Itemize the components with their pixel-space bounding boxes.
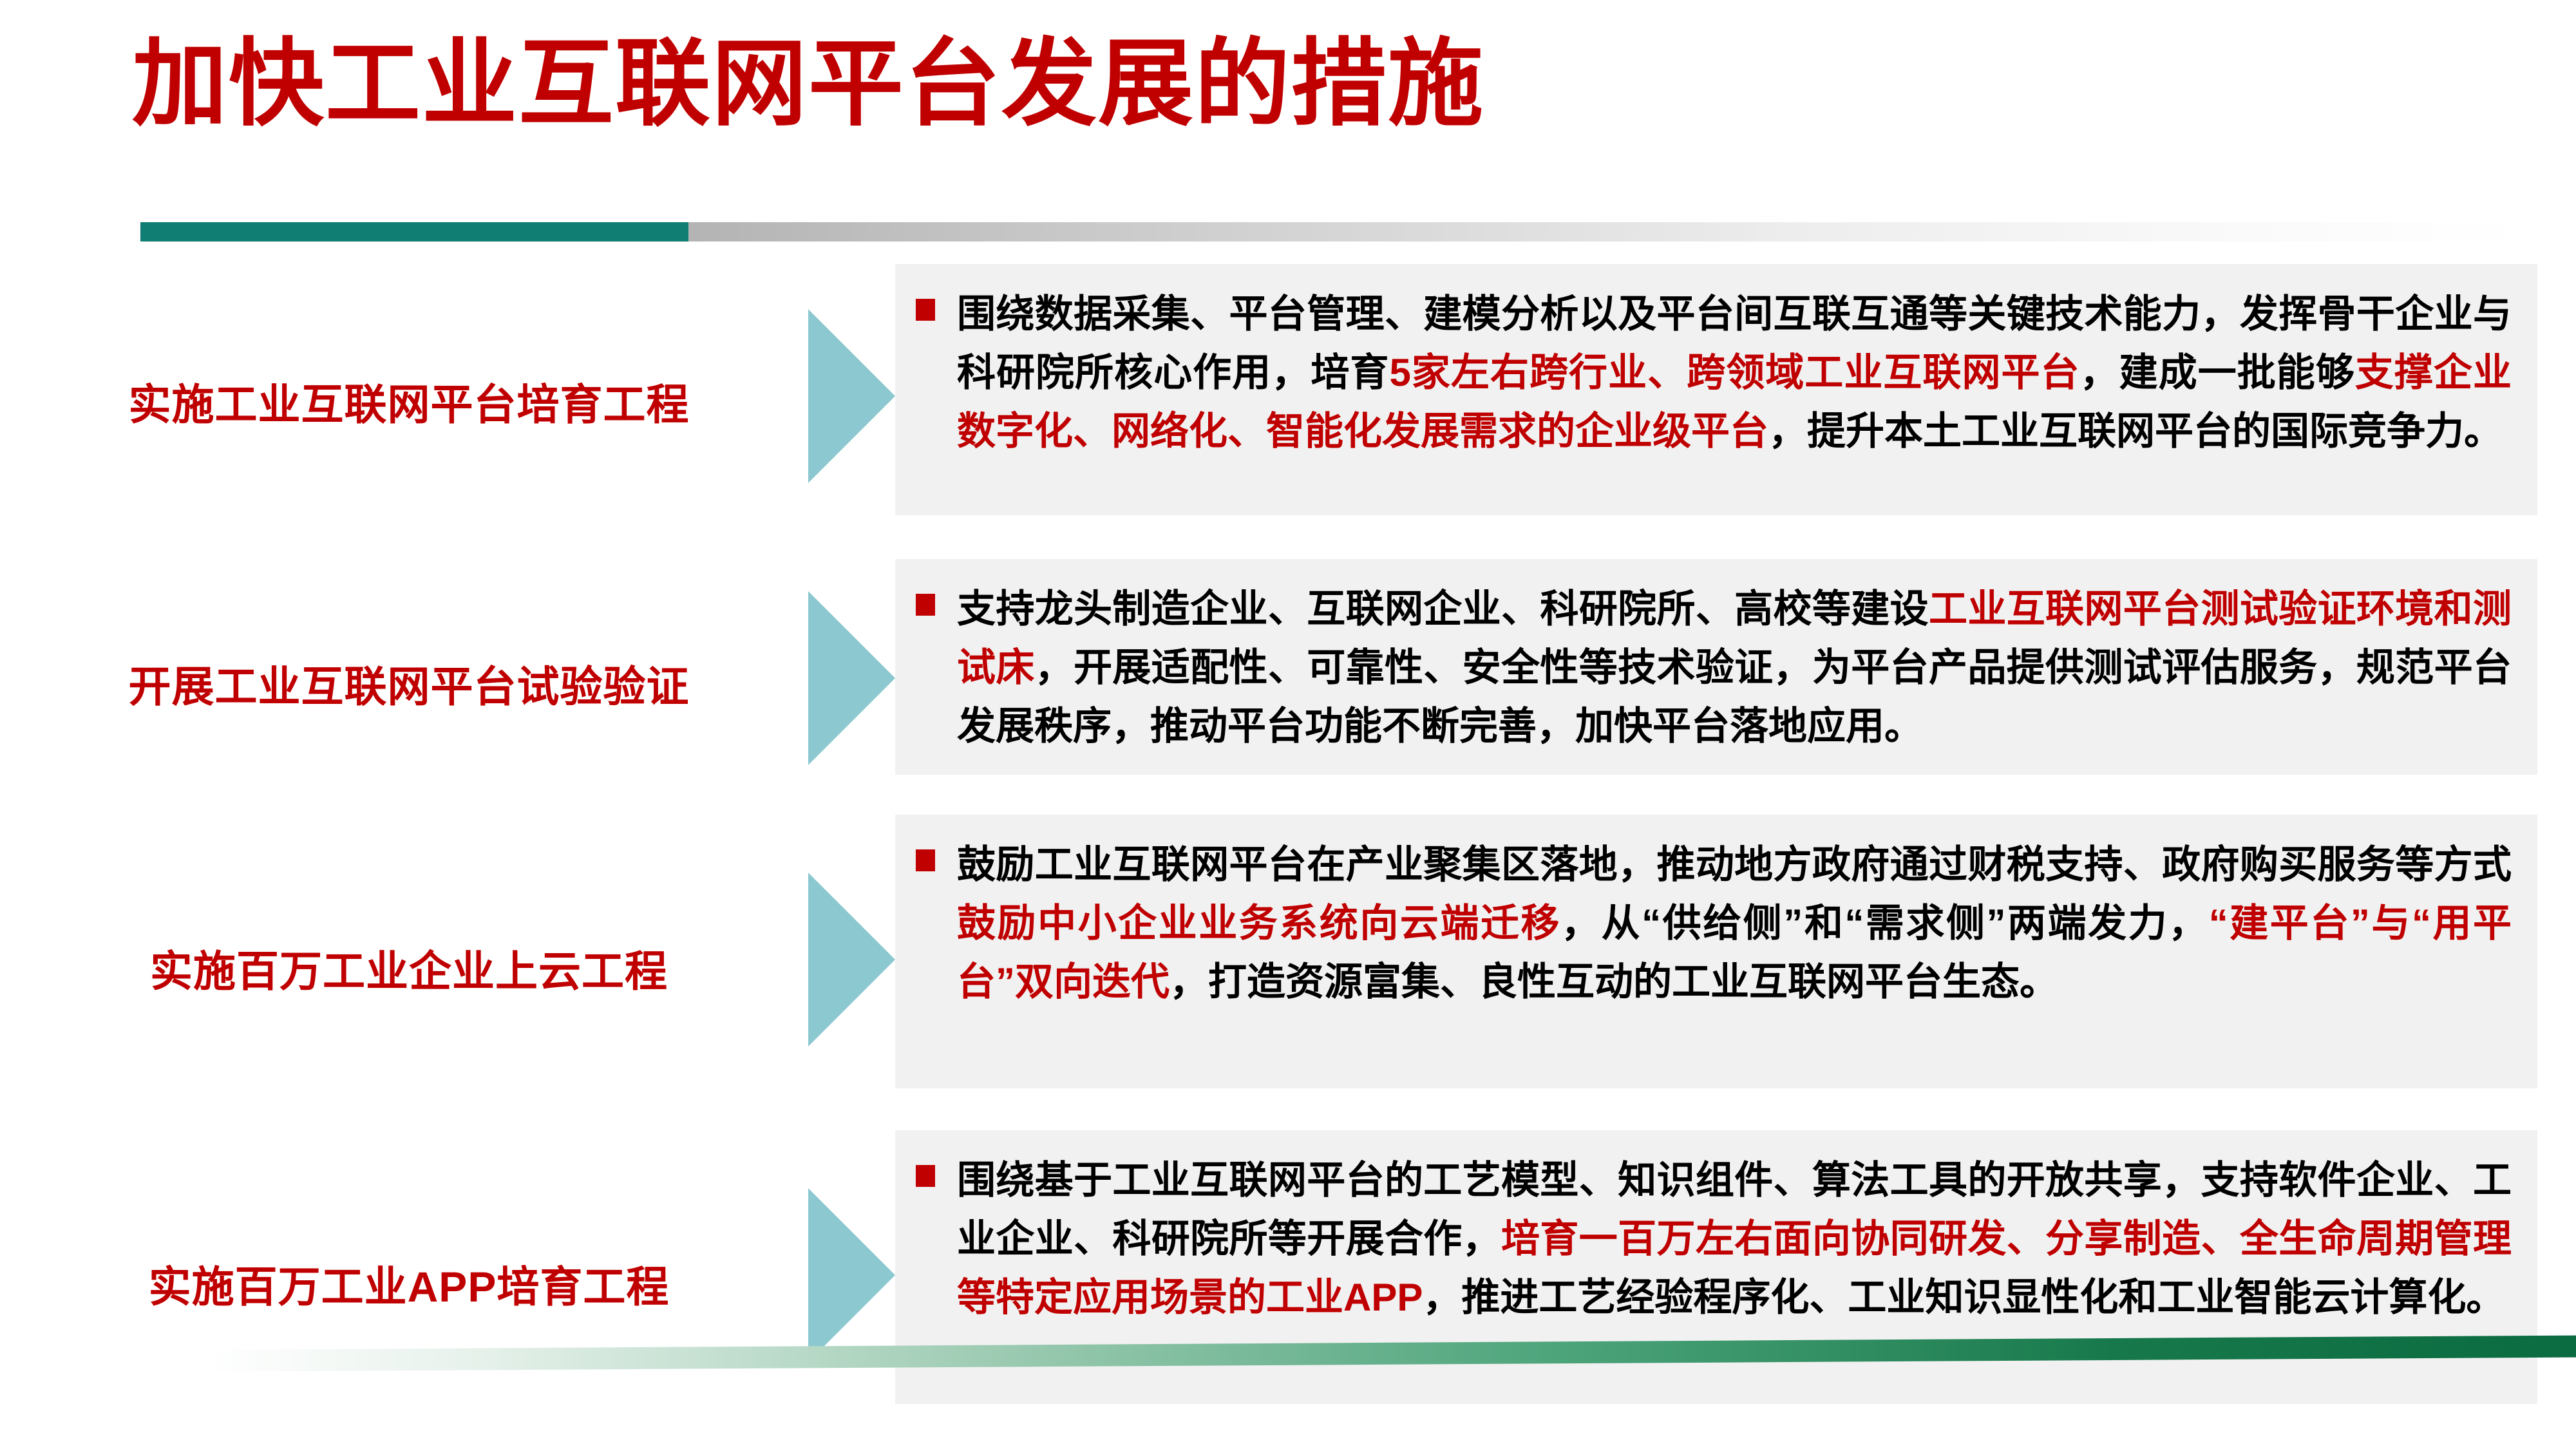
bullet-text: 鼓励工业互联网平台在产业聚集区落地，推动地方政府通过财税支持、政府购买服务等方式… (957, 835, 2512, 1012)
body-text: ，打造资源富集、良性互动的工业互联网平台生态。 (1170, 960, 2058, 1003)
chevron-right-icon (808, 572, 905, 784)
bullet-text: 支持龙头制造企业、互联网企业、科研院所、高校等建设工业互联网平台测试验证环境和测… (957, 580, 2512, 756)
bullet-item: 围绕基于工业互联网平台的工艺模型、知识组件、算法工具的开放共享，支持软件企业、工… (916, 1151, 2512, 1327)
body-text: ，开展适配性、可靠性、安全性等技术验证，为平台产品提供测试评估服务，规范平台发展… (957, 646, 2512, 748)
highlighted-text: 5家左右跨行业、跨领域工业互联网平台 (1389, 351, 2079, 394)
highlighted-text: 鼓励中小企业业务系统向云端迁移 (957, 902, 1561, 945)
measure-label: 开展工业互联网平台试验验证 (0, 652, 818, 714)
measure-label: 实施百万工业企业上云工程 (0, 937, 818, 999)
bullet-item: 支持龙头制造企业、互联网企业、科研院所、高校等建设工业互联网平台测试验证环境和测… (916, 580, 2512, 756)
square-bullet-icon (916, 594, 935, 616)
body-text: ，建成一批能够 (2080, 351, 2355, 394)
title-divider-accent (140, 222, 688, 241)
bullet-item: 鼓励工业互联网平台在产业聚集区落地，推动地方政府通过财税支持、政府购买服务等方式… (916, 835, 2512, 1012)
measure-panel: 围绕数据采集、平台管理、建模分析以及平台间互联互通等关键技术能力，发挥骨干企业与… (895, 264, 2537, 515)
body-text: ，从“供给侧”和“需求侧”两端发力， (1561, 902, 2209, 945)
bullet-text: 围绕数据采集、平台管理、建模分析以及平台间互联互通等关键技术能力，发挥骨干企业与… (957, 285, 2512, 461)
square-bullet-icon (916, 849, 935, 871)
measure-panel: 鼓励工业互联网平台在产业聚集区落地，推动地方政府通过财税支持、政府购买服务等方式… (895, 815, 2537, 1088)
square-bullet-icon (916, 1165, 935, 1187)
chevron-right-icon (808, 290, 905, 502)
body-text: 鼓励工业互联网平台在产业聚集区落地，推动地方政府通过财税支持、政府购买服务等方式 (957, 843, 2512, 886)
body-text: 支持龙头制造企业、互联网企业、科研院所、高校等建设 (957, 587, 1929, 630)
bullet-item: 围绕数据采集、平台管理、建模分析以及平台间互联互通等关键技术能力，发挥骨干企业与… (916, 285, 2512, 461)
page-title: 加快工业互联网平台发展的措施 (132, 32, 1484, 137)
measure-panel: 支持龙头制造企业、互联网企业、科研院所、高校等建设工业互联网平台测试验证环境和测… (895, 559, 2537, 775)
body-text: ，提升本土工业互联网平台的国际竞争力。 (1768, 410, 2503, 453)
title-divider-gradient (688, 222, 2523, 241)
bullet-text: 围绕基于工业互联网平台的工艺模型、知识组件、算法工具的开放共享，支持软件企业、工… (957, 1151, 2512, 1327)
title-divider (140, 222, 2523, 241)
square-bullet-icon (916, 299, 935, 321)
measure-label: 实施工业互联网平台培育工程 (0, 370, 818, 432)
body-text: ，推进工艺经验程序化、工业知识显性化和工业智能云计算化。 (1423, 1276, 2505, 1319)
chevron-right-icon (808, 853, 905, 1066)
measure-label: 实施百万工业APP培育工程 (0, 1253, 818, 1314)
